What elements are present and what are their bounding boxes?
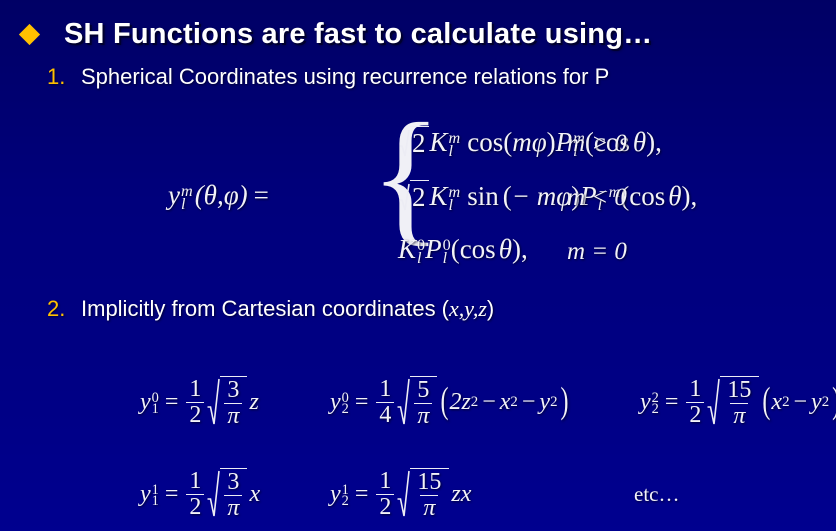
y22-root-den: π (730, 403, 748, 429)
equation-y11: y11 = 1 2 3 π x (140, 468, 260, 521)
etc-label: etc… (634, 482, 679, 507)
case3-K: K (398, 234, 416, 265)
y11-base: y (140, 481, 151, 508)
y21-tail: zx (451, 481, 471, 508)
y21-base: y (330, 481, 341, 508)
lhs-sup: m (181, 183, 193, 196)
case2-trig: sin (467, 181, 499, 212)
y20-base: y (330, 389, 341, 416)
equation-y10: y01 = 1 2 3 π z (140, 376, 259, 429)
case3-P: P (425, 234, 442, 265)
y11-root-den: π (224, 495, 242, 521)
y21-relation: = (355, 481, 369, 508)
case1-K-sub: l (449, 143, 461, 156)
y11-relation: = (165, 481, 179, 508)
case2-K-sub: l (449, 197, 461, 210)
page-title: SH Functions are fast to calculate using… (64, 18, 652, 51)
y22-root-num: 15 (724, 378, 754, 403)
list-item-1: 1. Spherical Coordinates using recurrenc… (47, 64, 609, 90)
y11-sub: 1 (152, 494, 159, 506)
y21-root-num: 15 (414, 470, 444, 495)
lhs-relation: = (254, 180, 269, 211)
y22-base: y (640, 389, 651, 416)
case1-trig-arg: mφ (512, 127, 546, 158)
y22-fraction: 1 2 (686, 377, 704, 428)
case3-K-sub: l (417, 250, 425, 263)
case2-K-sup: m (449, 184, 461, 197)
lhs-base: y (168, 180, 180, 211)
y22-sqrt-icon: 15 π (707, 376, 759, 429)
sqrt-2-icon: 2 (399, 126, 429, 159)
y10-relation: = (165, 389, 179, 416)
case-1-condition: m > 0 (567, 130, 627, 158)
y20-relation: = (355, 389, 369, 416)
y21-sub: 2 (342, 494, 349, 506)
y20-fraction: 1 4 (376, 377, 394, 428)
list-item-2: 2. Implicitly from Cartesian coordinates… (47, 296, 494, 322)
equation-y21: y12 = 1 2 15 π zx (330, 468, 471, 521)
y22-relation: = (665, 389, 679, 416)
sqrt-2-radicand: 2 (412, 182, 426, 213)
diamond-bullet-icon (19, 23, 40, 44)
y20-sqrt-icon: 5 π (397, 376, 437, 429)
y11-fraction: 1 2 (186, 469, 204, 520)
equation-case-3: K0l P0l (cosθ), (398, 234, 528, 265)
y10-sub: 1 (152, 402, 159, 414)
y20-root-num: 5 (414, 378, 432, 403)
y21-fraction: 1 2 (376, 469, 394, 520)
y20-sub: 2 (342, 402, 349, 414)
y10-base: y (140, 389, 151, 416)
case2-K: K (430, 181, 448, 212)
equation-case-2: 2 Kml sin (− mφ) P−ml (cosθ), (398, 180, 697, 219)
y10-fraction: 1 2 (186, 377, 204, 428)
lhs-sub: l (181, 196, 193, 209)
y10-tail: z (249, 389, 258, 416)
equation-y20: y02 = 1 4 5 π (2z2−x2−y2) (330, 376, 570, 429)
y10-root-den: π (224, 403, 242, 429)
case1-trig: cos (467, 127, 503, 158)
y11-root-num: 3 (224, 470, 242, 495)
sqrt-2-icon: 2 (399, 180, 429, 213)
case1-K: K (430, 127, 448, 158)
list-item-1-number: 1. (47, 64, 81, 90)
y22-sub: 2 (652, 402, 659, 414)
case2-trig-arg: − mφ (512, 181, 571, 212)
list-item-2-label-end: ) (487, 296, 494, 322)
list-item-1-label: Spherical Coordinates using recurrence r… (81, 64, 609, 90)
list-item-2-label: Implicitly from Cartesian coordinates ( (81, 296, 449, 322)
y20-root-den: π (414, 403, 432, 429)
y10-root-num: 3 (224, 378, 242, 403)
list-item-2-variables: x,y,z (449, 296, 487, 322)
case3-K-sup: 0 (417, 237, 425, 250)
sqrt-2-radicand: 2 (412, 128, 426, 159)
equation-lhs: yml(θ,φ)= (168, 180, 275, 211)
case-3-condition: m = 0 (567, 238, 627, 266)
lhs-args: (θ,φ) (195, 180, 248, 211)
case1-K-sup: m (449, 130, 461, 143)
case3-P-sub: l (443, 250, 451, 263)
y10-sqrt-icon: 3 π (207, 376, 247, 429)
slide-title-row: SH Functions are fast to calculate using… (0, 13, 836, 55)
case-2-condition: m < 0 (567, 184, 627, 212)
y11-tail: x (249, 481, 260, 508)
case3-P-arg-fn: cos (460, 234, 496, 265)
y21-root-den: π (420, 495, 438, 521)
equation-y22: y22 = 1 2 15 π (x2−y2) (640, 376, 836, 429)
y21-sqrt-icon: 15 π (397, 468, 449, 521)
list-item-2-number: 2. (47, 296, 81, 322)
y11-sqrt-icon: 3 π (207, 468, 247, 521)
case2-P-arg-fn: cos (629, 181, 665, 212)
case3-P-sup: 0 (443, 237, 451, 250)
